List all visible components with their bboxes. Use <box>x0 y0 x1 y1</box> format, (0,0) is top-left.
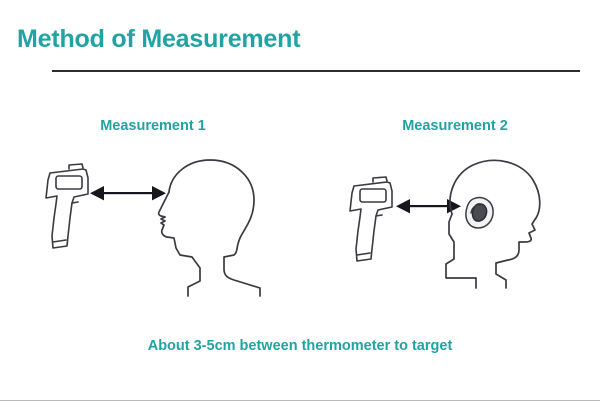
page-title: Method of Measurement <box>17 25 300 54</box>
distance-caption: About 3-5cm between thermometer to targe… <box>0 338 600 354</box>
head-profile-facing-left-1 <box>159 160 260 296</box>
thermometer-gun-icon-1 <box>46 164 88 248</box>
title-divider <box>52 70 580 72</box>
measurement-2-figure <box>330 156 580 296</box>
measurement-2-label: Measurement 2 <box>330 118 580 134</box>
head-profile-facing-right-2 <box>446 160 540 288</box>
ear-icon <box>466 198 493 228</box>
measurement-panel-2: Measurement 2 <box>330 118 580 298</box>
distance-arrow-1 <box>90 186 166 200</box>
slide-canvas: Method of Measurement Measurement 1 <box>0 0 600 401</box>
measurement-1-label: Measurement 1 <box>28 118 278 134</box>
measurement-panel-1: Measurement 1 <box>28 118 278 298</box>
measurement-1-figure <box>28 156 278 296</box>
thermometer-gun-icon-2 <box>350 177 392 261</box>
